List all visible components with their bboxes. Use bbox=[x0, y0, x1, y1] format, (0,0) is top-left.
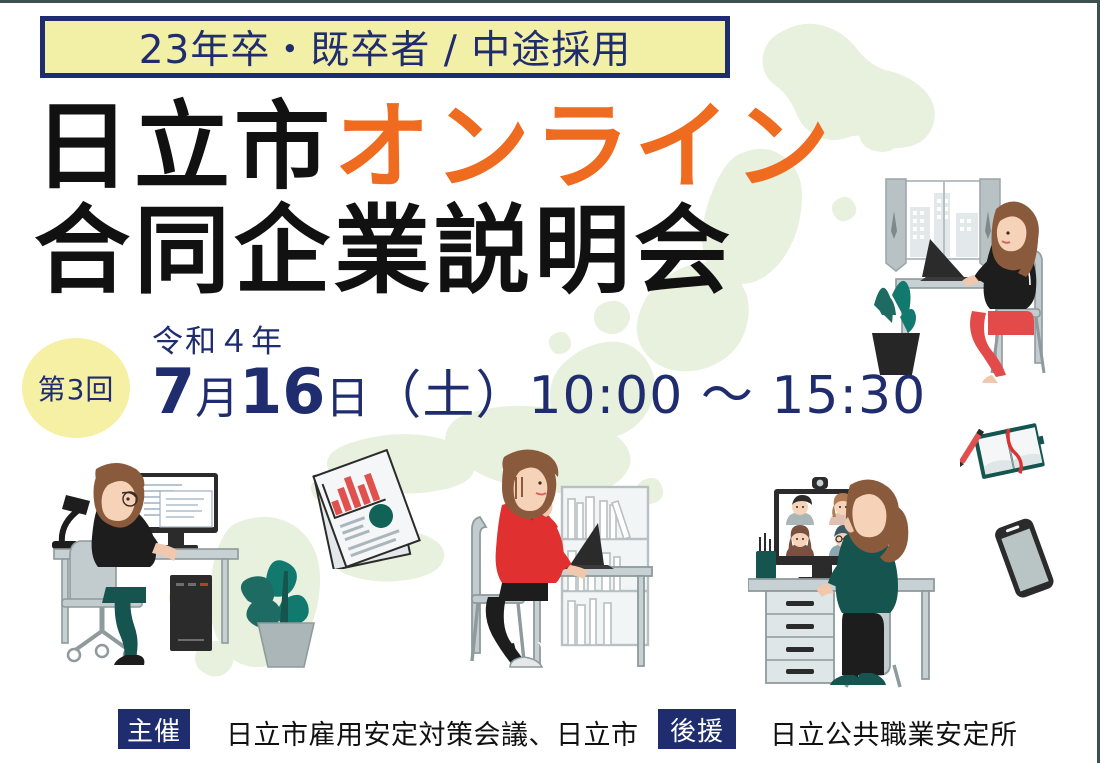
event-date-block: 令和４年 7月16日（土）10:00 〜 15:30 bbox=[152, 325, 926, 439]
event-day: 16 bbox=[239, 355, 325, 428]
banner-text: 23年卒・既卒者 / 中途採用 bbox=[139, 19, 632, 75]
target-audience-banner: 23年卒・既卒者 / 中途採用 bbox=[40, 16, 730, 78]
event-month-unit: 月 bbox=[195, 373, 239, 424]
edition-badge-label: 第3回 bbox=[22, 338, 130, 438]
event-weekday: （土） bbox=[369, 366, 528, 426]
footer-organizers: 主催 日立市雇用安定対策会議、日立市 後援 日立公共職業安定所 bbox=[0, 709, 1100, 755]
title-line-1: 日立市オンライン bbox=[34, 95, 834, 199]
event-date-line: 7月16日（土）10:00 〜 15:30 bbox=[152, 361, 926, 439]
video-tile-1 bbox=[779, 494, 822, 525]
event-month: 7 bbox=[152, 355, 195, 428]
organizer-badge: 主催 bbox=[118, 709, 190, 749]
event-time-range: 10:00 〜 15:30 bbox=[528, 366, 926, 426]
person-phone-laptop-illustration bbox=[450, 443, 680, 683]
event-day-unit: 日 bbox=[325, 373, 369, 424]
era-year: 令和４年 bbox=[152, 325, 926, 359]
supporter-text: 日立公共職業安定所 bbox=[770, 713, 1018, 752]
title-line-2: 合同企業説明会 bbox=[34, 199, 834, 303]
page-title: 日立市オンライン 合同企業説明会 bbox=[34, 95, 834, 303]
organizer-text: 日立市雇用安定対策会議、日立市 bbox=[226, 713, 639, 752]
man-at-desktop-computer-illustration bbox=[30, 451, 315, 676]
video-tile-3 bbox=[779, 525, 822, 556]
poster-root: 23年卒・既卒者 / 中途採用 日立市オンライン 合同企業説明会 第3回 令和４… bbox=[0, 0, 1100, 763]
open-notebook-and-pen-illustration bbox=[960, 415, 1060, 495]
documents-with-chart-illustration bbox=[306, 449, 436, 569]
title-city: 日立市 bbox=[34, 91, 334, 203]
smartphone-illustration bbox=[985, 515, 1065, 605]
title-online: オンライン bbox=[334, 91, 834, 203]
supporter-badge: 後援 bbox=[658, 709, 736, 749]
video-conference-illustration bbox=[748, 469, 958, 689]
